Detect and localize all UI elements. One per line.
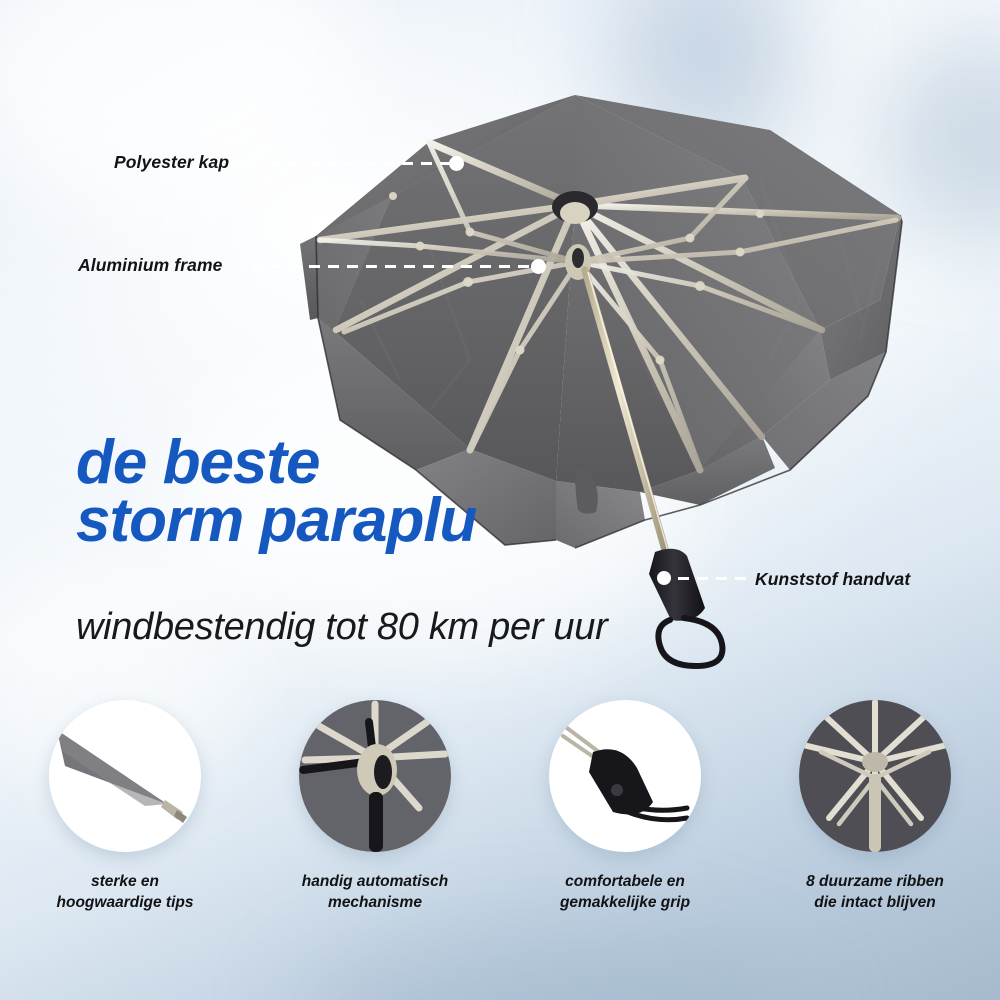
umbrella-ribs-icon [799, 700, 951, 852]
callout-dot-polyester [449, 156, 464, 171]
feature-caption: 8 duurzame ribben die intact blijven [806, 872, 944, 913]
headline-line-2: storm paraplu [76, 492, 476, 550]
feature-item: comfortabele en gemakkelijke grip [518, 700, 733, 913]
callout-line-polyester [250, 162, 455, 165]
page-subtitle: windbestendig tot 80 km per uur [76, 606, 607, 649]
infographic-canvas: Polyester kap Aluminium frame Kunststof … [0, 0, 1000, 1000]
feature-item: 8 duurzame ribben die intact blijven [768, 700, 983, 913]
feature-row: sterke en hoogwaardige tips [0, 700, 1000, 960]
callout-dot-frame [531, 259, 546, 274]
feature-caption: comfortabele en gemakkelijke grip [560, 872, 690, 913]
wrist-strap [658, 618, 722, 666]
umbrella-mechanism-icon [299, 700, 451, 852]
callout-label-frame: Aluminium frame [78, 255, 222, 276]
umbrella-handle-icon [549, 700, 701, 852]
feature-item: sterke en hoogwaardige tips [18, 700, 233, 913]
callout-line-frame [252, 265, 537, 268]
feature-item: handig automatisch mechanisme [268, 700, 483, 913]
callout-label-polyester: Polyester kap [114, 152, 229, 173]
umbrella-handle [649, 549, 722, 666]
page-title: de beste storm paraplu [76, 434, 476, 549]
feature-caption: handig automatisch mechanisme [302, 872, 448, 913]
callout-line-handle [678, 577, 748, 580]
feature-caption: sterke en hoogwaardige tips [57, 872, 194, 913]
callout-label-handle: Kunststof handvat [755, 569, 910, 590]
umbrella-tip-icon [49, 700, 201, 852]
